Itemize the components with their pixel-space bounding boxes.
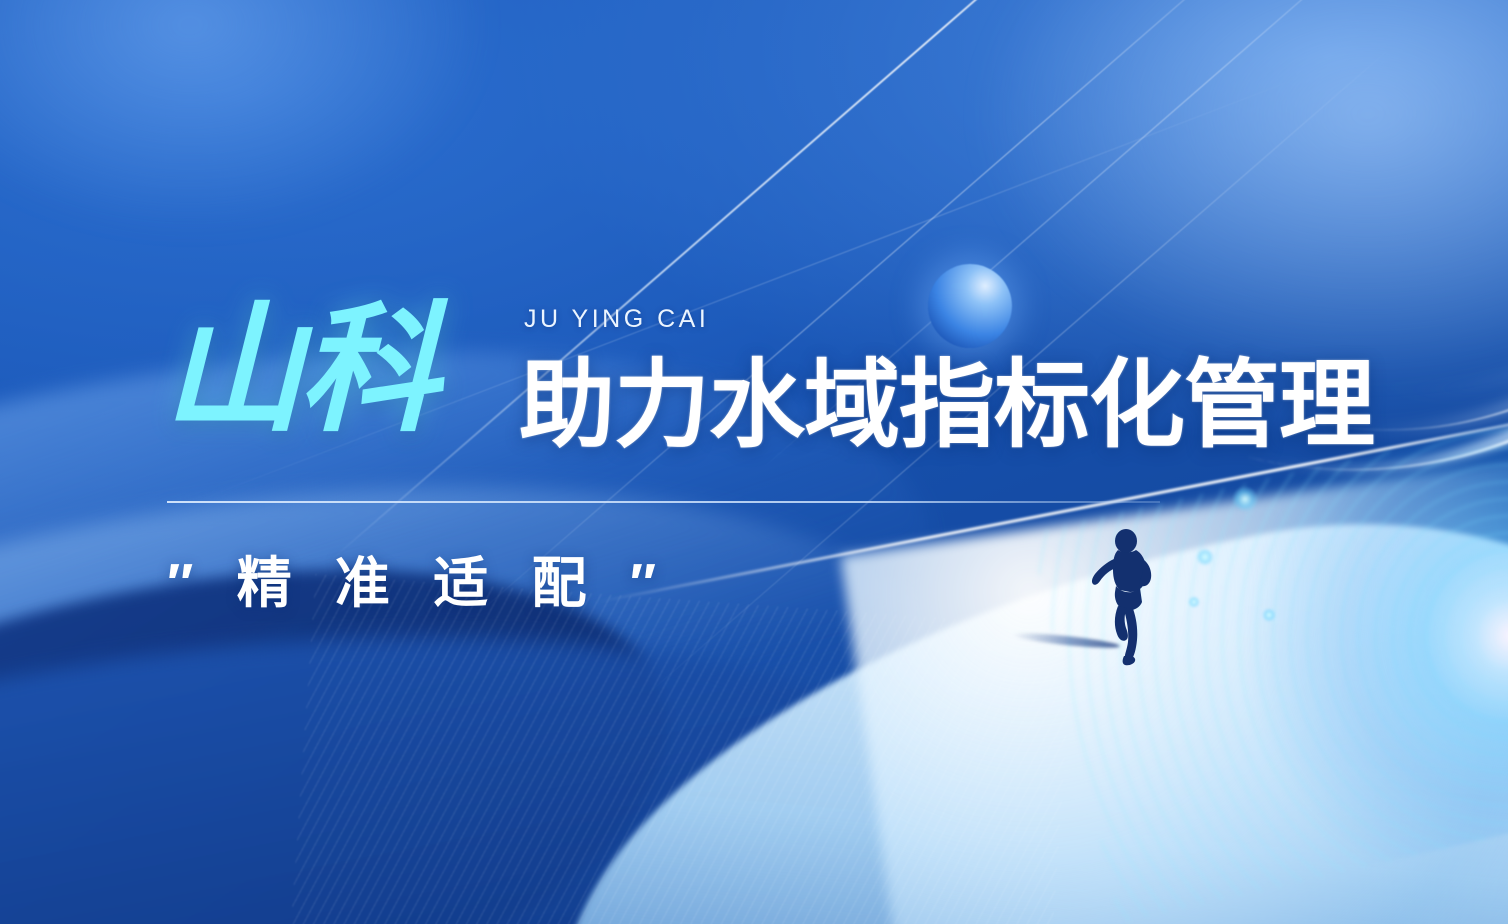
brand-pinyin: JU YING CAI [524, 305, 709, 334]
headline-divider [167, 501, 1160, 503]
tagline-text: ″ 精 准 适 配 ″ [167, 538, 670, 618]
brand-logo-text: 山科 [163, 300, 435, 440]
poster-text-block: 山科 JU YING CAI 助力水域指标化管理 ″ 精 准 适 配 ″ [0, 0, 1508, 924]
headline-text: 助力水域指标化管理 [519, 358, 1374, 454]
poster-canvas: 山科 JU YING CAI 助力水域指标化管理 ″ 精 准 适 配 ″ [0, 0, 1508, 924]
